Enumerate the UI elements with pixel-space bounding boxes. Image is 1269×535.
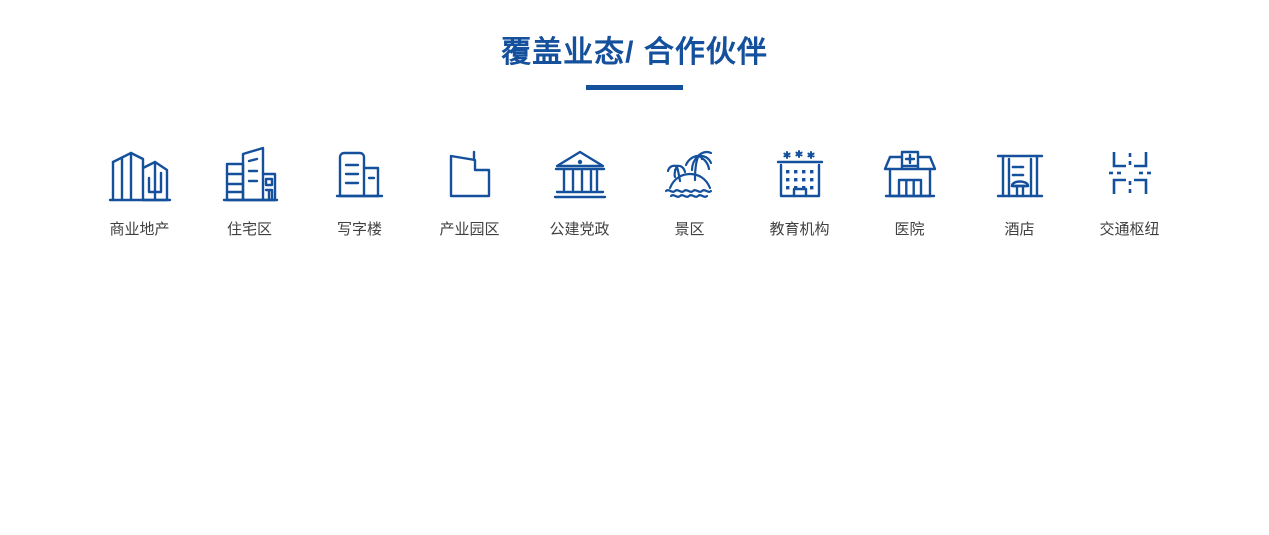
industry-label: 景区 (674, 220, 704, 240)
industry-item-commercial-real-estate[interactable]: 商业地产 (85, 140, 195, 240)
scenic-island-icon (657, 140, 723, 206)
title-underline (586, 85, 683, 90)
section-header: 覆盖业态/ 合作伙伴 (0, 0, 1269, 90)
industry-label: 酒店 (1004, 220, 1034, 240)
industry-item-hotel[interactable]: 酒店 (965, 140, 1075, 240)
hospital-icon (877, 140, 943, 206)
industry-item-scenic-area[interactable]: 景区 (635, 140, 745, 240)
traffic-hub-icon (1097, 140, 1163, 206)
school-icon (767, 140, 833, 206)
industry-label: 住宅区 (227, 220, 272, 240)
industry-label: 商业地产 (109, 220, 169, 240)
government-building-icon (547, 140, 613, 206)
page-root: 覆盖业态/ 合作伙伴 商业地产 (0, 0, 1269, 535)
industry-label: 教育机构 (769, 220, 829, 240)
industry-label: 公建党政 (549, 220, 609, 240)
industry-item-office-building[interactable]: 写字楼 (305, 140, 415, 240)
industry-item-residential-area[interactable]: 住宅区 (195, 140, 305, 240)
industry-item-industrial-park[interactable]: 产业园区 (415, 140, 525, 240)
industry-list: 商业地产 住宅区 (0, 140, 1269, 240)
industry-label: 写字楼 (337, 220, 382, 240)
industry-item-traffic-hub[interactable]: 交通枢纽 (1075, 140, 1185, 240)
industry-label: 产业园区 (439, 220, 499, 240)
page-title: 覆盖业态/ 合作伙伴 (501, 33, 768, 73)
commercial-real-estate-icon (107, 140, 173, 206)
industrial-park-icon (437, 140, 503, 206)
industry-item-government-building[interactable]: 公建党政 (525, 140, 635, 240)
industry-item-hospital[interactable]: 医院 (855, 140, 965, 240)
office-building-icon (327, 140, 393, 206)
industry-label: 交通枢纽 (1099, 220, 1159, 240)
industry-item-education-institution[interactable]: 教育机构 (745, 140, 855, 240)
industry-label: 医院 (894, 220, 924, 240)
hotel-icon (987, 140, 1053, 206)
residential-area-icon (217, 140, 283, 206)
